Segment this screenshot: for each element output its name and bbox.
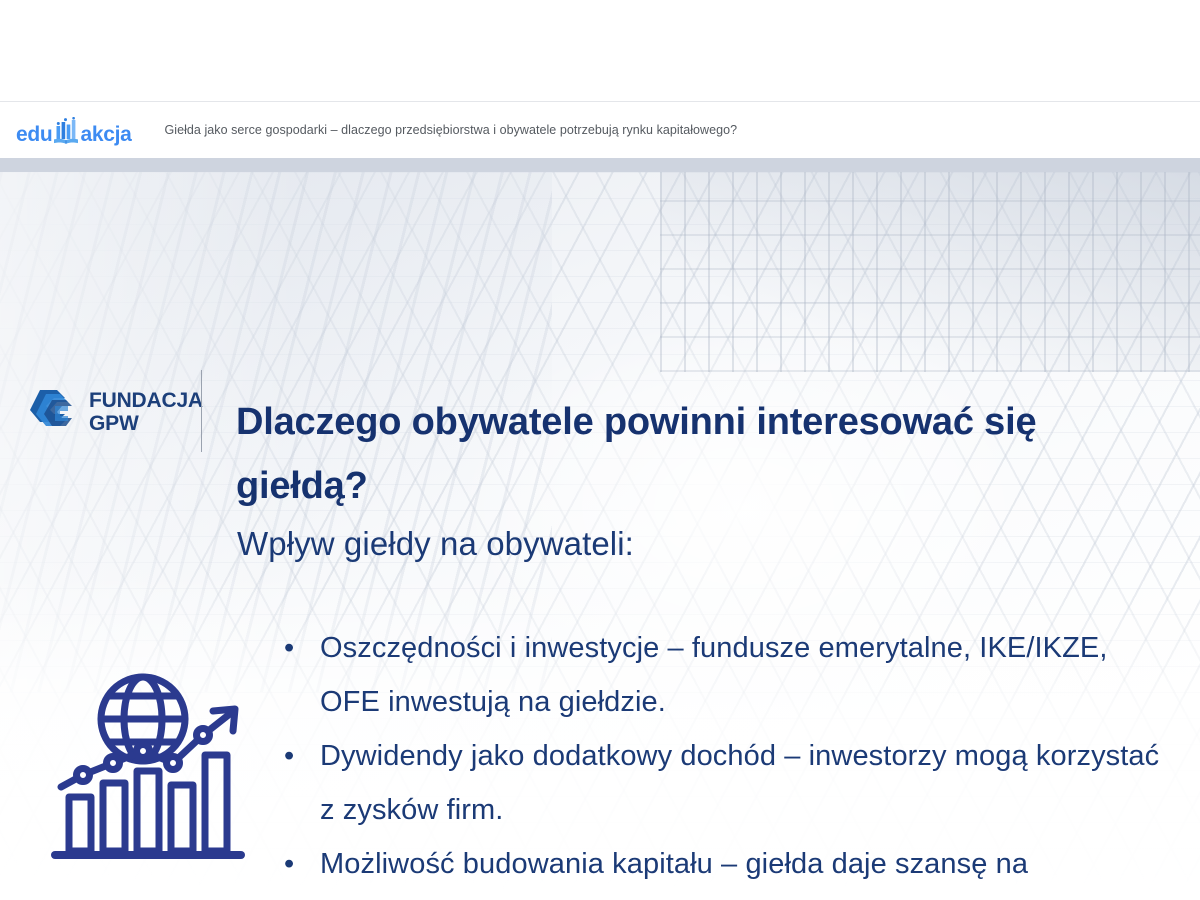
bullet-marker: • [284, 622, 294, 676]
gpw-hexagon-icon [24, 386, 76, 438]
eduakcja-logo[interactable]: edu akcja [16, 115, 132, 145]
slide-background-ceiling [660, 172, 1200, 372]
list-item-text: Możliwość budowania kapitału – giełda da… [320, 848, 1028, 900]
list-item-text: Oszczędności i inwestycje – fundusze eme… [320, 632, 1108, 718]
slide-title: Dlaczego obywatele powinni interesować s… [236, 391, 1146, 519]
presentation-viewer: edu akcja Giełda jako serce gospodarki –… [0, 0, 1200, 900]
bullet-marker: • [284, 838, 294, 892]
slide-bullet-list: • Oszczędności i inwestycje – fundusze e… [280, 622, 1170, 900]
list-item-text: Dywidendy jako dodatkowy dochód – inwest… [320, 740, 1159, 826]
list-item: • Możliwość budowania kapitału – giełda … [280, 838, 1170, 900]
logo-title-divider [201, 370, 202, 452]
app-header: edu akcja Giełda jako serce gospodarki –… [0, 101, 1200, 158]
gpw-wordmark-line2: GPW [89, 413, 203, 434]
brand-text-left: edu [16, 124, 52, 145]
fundacja-gpw-logo: FUNDACJA GPW [24, 386, 203, 438]
brand-text-right: akcja [80, 124, 131, 145]
gpw-wordmark: FUNDACJA GPW [89, 390, 203, 434]
globe-bar-chart-growth-icon [45, 659, 255, 874]
top-blank-area [0, 0, 1200, 101]
book-chart-icon [53, 117, 79, 145]
gpw-wordmark-line1: FUNDACJA [89, 390, 203, 411]
list-item: • Dywidendy jako dodatkowy dochód – inwe… [280, 730, 1170, 838]
bullet-marker: • [284, 730, 294, 784]
document-title: Giełda jako serce gospodarki – dlaczego … [165, 123, 738, 137]
header-accent-band [0, 158, 1200, 172]
list-item: • Oszczędności i inwestycje – fundusze e… [280, 622, 1170, 730]
slide-subtitle: Wpływ giełdy na obywateli: [237, 521, 634, 567]
slide-canvas: FUNDACJA GPW Dlaczego obywatele powinni … [0, 172, 1200, 900]
